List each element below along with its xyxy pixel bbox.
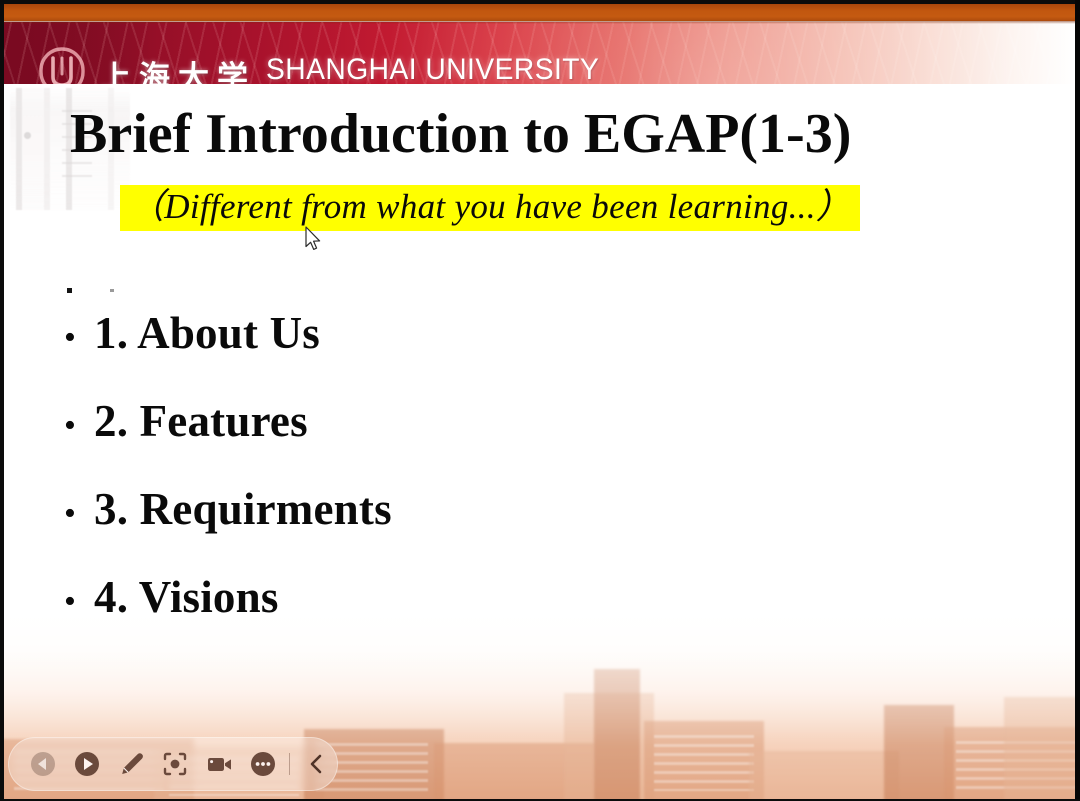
circle-left-triangle-icon: [30, 751, 56, 777]
stray-mark-right: [110, 289, 114, 292]
university-name-english: SHANGHAI UNIVERSITY: [266, 53, 599, 84]
window-edge-right: [1075, 0, 1080, 801]
list-item: • 1. About Us: [64, 311, 964, 399]
slide-title: Brief Introduction to EGAP(1-3): [70, 105, 1030, 163]
play-button[interactable]: [65, 742, 109, 786]
bullet-marker-icon: •: [64, 409, 94, 443]
chevron-left-icon: [305, 752, 327, 776]
bullet-text: 2. Features: [94, 399, 308, 444]
screenshot-button[interactable]: [153, 742, 197, 786]
shanghai-university-u-logo-icon: [37, 47, 87, 84]
bullet-marker-icon: •: [64, 585, 94, 619]
bullet-marker-icon: •: [64, 321, 94, 355]
university-name-chinese: 上海大学: [100, 52, 256, 84]
bullet-text: 4. Visions: [94, 575, 279, 620]
list-item: • 4. Visions: [64, 575, 964, 663]
stray-mark-left: [67, 288, 72, 293]
list-item: • 3. Requirments: [64, 487, 964, 575]
annotate-button[interactable]: [109, 742, 153, 786]
slide-bullet-list: • 1. About Us • 2. Features • 3. Requirm…: [64, 311, 964, 663]
circle-play-icon: [74, 751, 100, 777]
list-item: • 2. Features: [64, 399, 964, 487]
more-button[interactable]: [241, 742, 285, 786]
toolbar-divider: [289, 753, 290, 775]
university-banner: 上海大学 SHANGHAI UNIVERSITY: [4, 22, 1075, 84]
record-button[interactable]: [197, 742, 241, 786]
orange-accent-bar: [4, 4, 1075, 21]
window-edge-left: [0, 0, 4, 801]
slide-viewer: 上海大学 SHANGHAI UNIVERSITY Brief Introduct…: [0, 0, 1080, 801]
capture-frame-icon: [162, 751, 188, 777]
media-player-toolbar: [8, 737, 338, 791]
collapse-button[interactable]: [294, 742, 338, 786]
video-camera-icon: [206, 751, 233, 777]
pencil-icon: [118, 751, 144, 777]
bullet-text: 1. About Us: [94, 311, 320, 356]
slide-subtitle-container: （Different from what you have been learn…: [120, 185, 860, 231]
presentation-slide: 上海大学 SHANGHAI UNIVERSITY Brief Introduct…: [4, 4, 1075, 801]
bullet-text: 3. Requirments: [94, 487, 392, 532]
slide-subtitle-highlighted: （Different from what you have been learn…: [120, 185, 860, 231]
orange-accent-bar-shadow: [4, 21, 1075, 24]
circle-ellipsis-icon: [250, 751, 276, 777]
bullet-marker-icon: •: [64, 497, 94, 531]
window-edge-top: [0, 0, 1080, 4]
previous-button[interactable]: [21, 742, 65, 786]
